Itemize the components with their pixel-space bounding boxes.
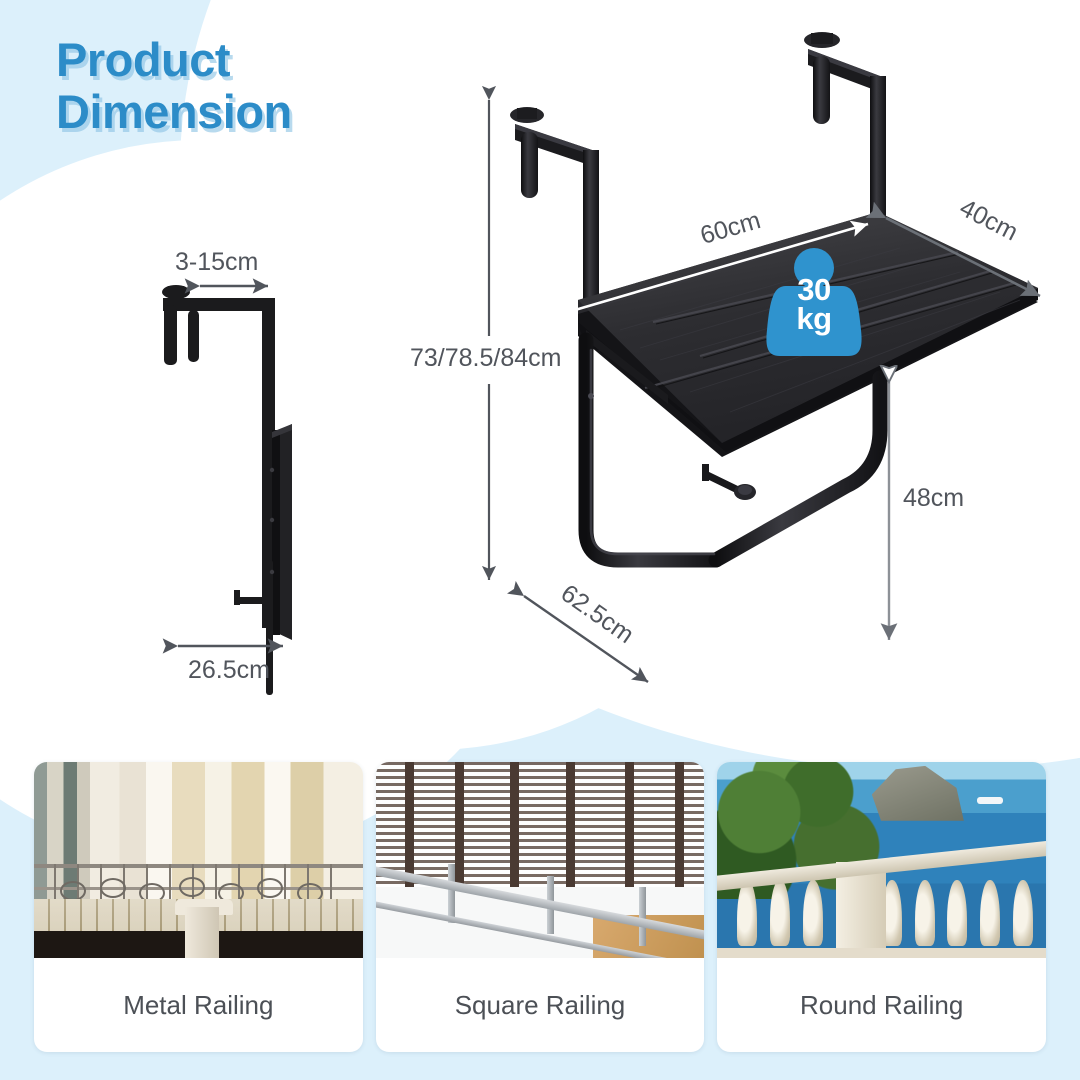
list-item-label: Metal Railing	[34, 958, 363, 1052]
list-item[interactable]: Round Railing	[717, 762, 1046, 1052]
railing-card-list: Metal Railing Square Railing	[0, 762, 1080, 1052]
page-title: Product Dimension	[56, 34, 292, 138]
folded-depth-label: 26.5cm	[188, 656, 270, 685]
page-title-line-2: Dimension	[56, 86, 292, 138]
square-railing-photo	[376, 762, 705, 958]
railing-top-bar	[34, 864, 363, 868]
stone-post	[185, 907, 219, 958]
page-title-line-1: Product	[56, 34, 292, 86]
round-railing-photo	[717, 762, 1046, 958]
under-table-height-label: 48cm	[903, 484, 964, 513]
list-item-label: Square Railing	[376, 958, 705, 1052]
folded-width-label: 3-15cm	[175, 248, 258, 277]
boat	[977, 797, 1003, 804]
terrace-ledge	[717, 948, 1046, 958]
list-item-label: Round Railing	[717, 958, 1046, 1052]
total-height-label: 73/78.5/84cm	[410, 344, 562, 373]
infographic-canvas: Product Dimension	[0, 0, 1080, 1080]
list-item[interactable]: Metal Railing	[34, 762, 363, 1052]
list-item[interactable]: Square Railing	[376, 762, 705, 1052]
metal-railing-photo	[34, 762, 363, 958]
